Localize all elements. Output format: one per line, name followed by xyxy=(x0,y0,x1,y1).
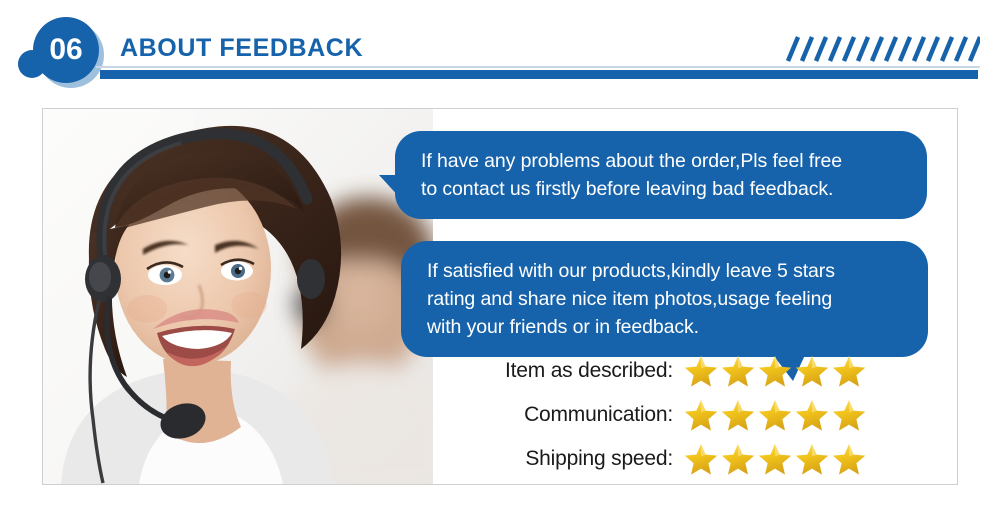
star-icon xyxy=(720,442,756,476)
bubble-2-line-2: rating and share nice item photos,usage … xyxy=(427,285,906,313)
star-icon xyxy=(794,398,830,432)
bubble-2-line-1: If satisfied with our products,kindly le… xyxy=(427,257,906,285)
diagonal-stripes-decoration xyxy=(784,33,980,63)
rating-label-shipping-speed: Shipping speed: xyxy=(483,447,683,471)
star-icon xyxy=(831,354,867,388)
section-number-badge: 06 xyxy=(33,17,99,83)
star-icon xyxy=(720,398,756,432)
star-icon xyxy=(757,398,793,432)
star-icon xyxy=(831,398,867,432)
rating-label-item-as-described: Item as described: xyxy=(483,359,683,383)
header-divider-thin xyxy=(96,66,980,68)
star-icon xyxy=(683,442,719,476)
bubble-1-line-1: If have any problems about the order,Pls… xyxy=(421,147,905,175)
star-rating-item-as-described xyxy=(683,354,867,388)
star-icon xyxy=(794,442,830,476)
rating-row: Communication: xyxy=(483,393,943,437)
star-rating-shipping-speed xyxy=(683,442,867,476)
bubble-2-line-3: with your friends or in feedback. xyxy=(427,313,906,341)
feedback-content-card: If have any problems about the order,Pls… xyxy=(42,108,958,485)
rating-row: Item as described: xyxy=(483,349,943,393)
feedback-message-bubble-2: If satisfied with our products,kindly le… xyxy=(401,241,928,357)
star-icon xyxy=(683,354,719,388)
page-title: ABOUT FEEDBACK xyxy=(120,34,363,63)
star-icon xyxy=(720,354,756,388)
star-icon xyxy=(831,442,867,476)
star-icon xyxy=(683,398,719,432)
bubble-1-line-2: to contact us firstly before leaving bad… xyxy=(421,175,905,203)
header-divider-thick xyxy=(100,70,978,79)
about-feedback-banner: 06 ABOUT FEEDBACK xyxy=(0,0,1000,513)
customer-service-photo xyxy=(43,109,433,484)
bubble-tail-left-icon xyxy=(379,175,401,199)
section-number: 06 xyxy=(49,35,82,65)
section-header: 06 ABOUT FEEDBACK xyxy=(0,0,1000,100)
star-rating-communication xyxy=(683,398,867,432)
star-icon xyxy=(757,442,793,476)
rating-list: Item as described: Communication: xyxy=(483,349,943,481)
feedback-message-bubble-1: If have any problems about the order,Pls… xyxy=(395,131,927,219)
rating-row: Shipping speed: xyxy=(483,437,943,481)
rating-label-communication: Communication: xyxy=(483,403,683,427)
star-icon xyxy=(757,354,793,388)
star-icon xyxy=(794,354,830,388)
